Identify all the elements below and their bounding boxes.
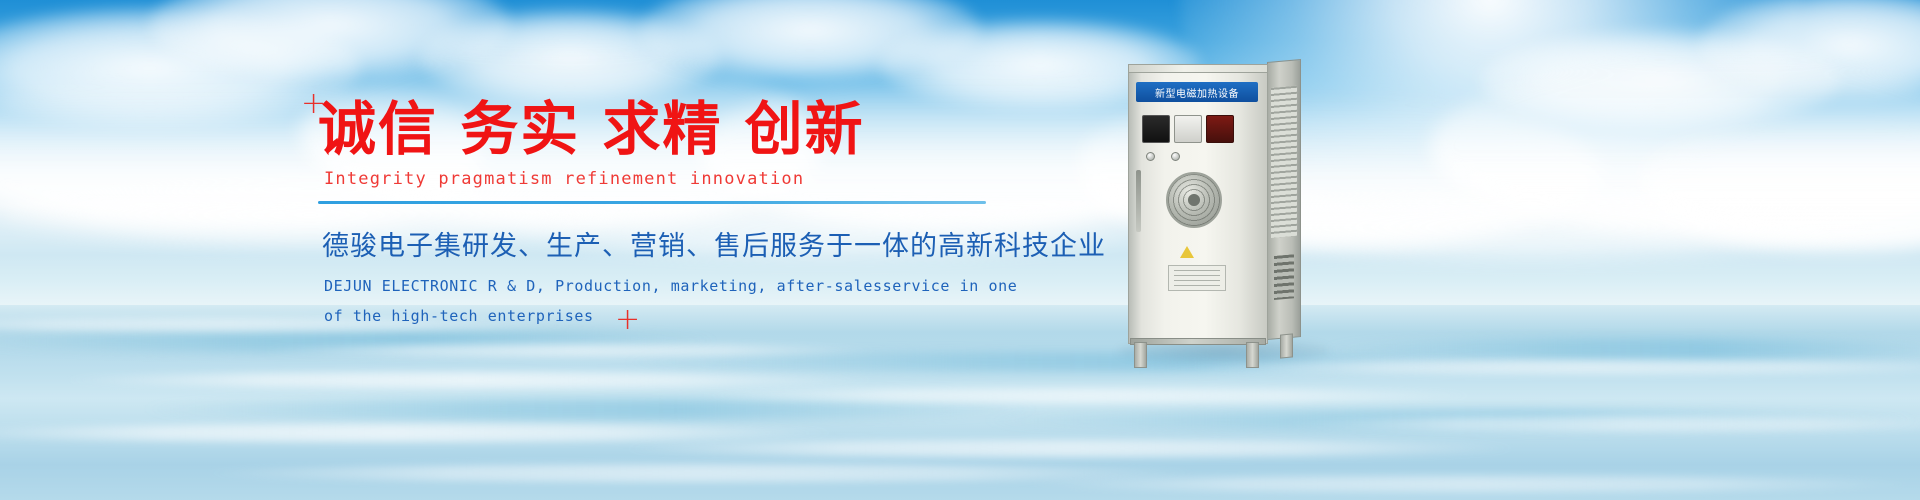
wave-crest [700, 388, 1480, 403]
banner-text-block: 诚信 务实 求精 创新 Integrity pragmatism refinem… [318, 96, 1038, 331]
machine-spec-plate [1168, 265, 1226, 291]
machine-knob [1146, 152, 1155, 161]
page-title: 诚信 务实 求精 创新 [318, 96, 1038, 163]
machine-vent-slots [1271, 86, 1297, 238]
machine-display-1 [1142, 115, 1170, 143]
machine-lower-grill [1274, 254, 1294, 300]
machine-warning-icon [1180, 246, 1194, 258]
machine-control-panel [1142, 112, 1252, 146]
wave-crest [200, 464, 1200, 482]
machine-fan-vent [1166, 172, 1222, 228]
machine-fan-grill [1168, 174, 1220, 226]
machine-knob [1171, 152, 1180, 161]
headline-subtitle-en: Integrity pragmatism refinement innovati… [324, 169, 1038, 189]
wave-crest [60, 372, 880, 388]
machine-nameplate: 新型电磁加热设备 [1136, 82, 1258, 102]
machine-leg [1246, 342, 1259, 368]
company-description-cn: 德骏电子集研发、生产、营销、售后服务于一体的高新科技企业 [322, 224, 1038, 263]
hero-banner: + + 诚信 务实 求精 创新 Integrity pragmatism ref… [0, 0, 1920, 500]
wave-crest [260, 344, 880, 357]
company-description-en-line1: DEJUN ELECTRONIC R & D, Production, mark… [324, 273, 1038, 301]
wave-crest [1020, 476, 1920, 492]
wave-crest [620, 440, 1520, 457]
machine-side-strip [1136, 170, 1141, 232]
divider [318, 201, 986, 204]
machine-display-3 [1206, 115, 1234, 143]
machine-display-2 [1174, 115, 1202, 143]
machine-leg [1134, 342, 1147, 368]
machine-leg [1280, 333, 1293, 358]
company-description-en-line2: of the high-tech enterprises [324, 303, 1038, 331]
product-image: 新型电磁加热设备 [1128, 60, 1310, 360]
machine-knob-row [1146, 152, 1246, 164]
